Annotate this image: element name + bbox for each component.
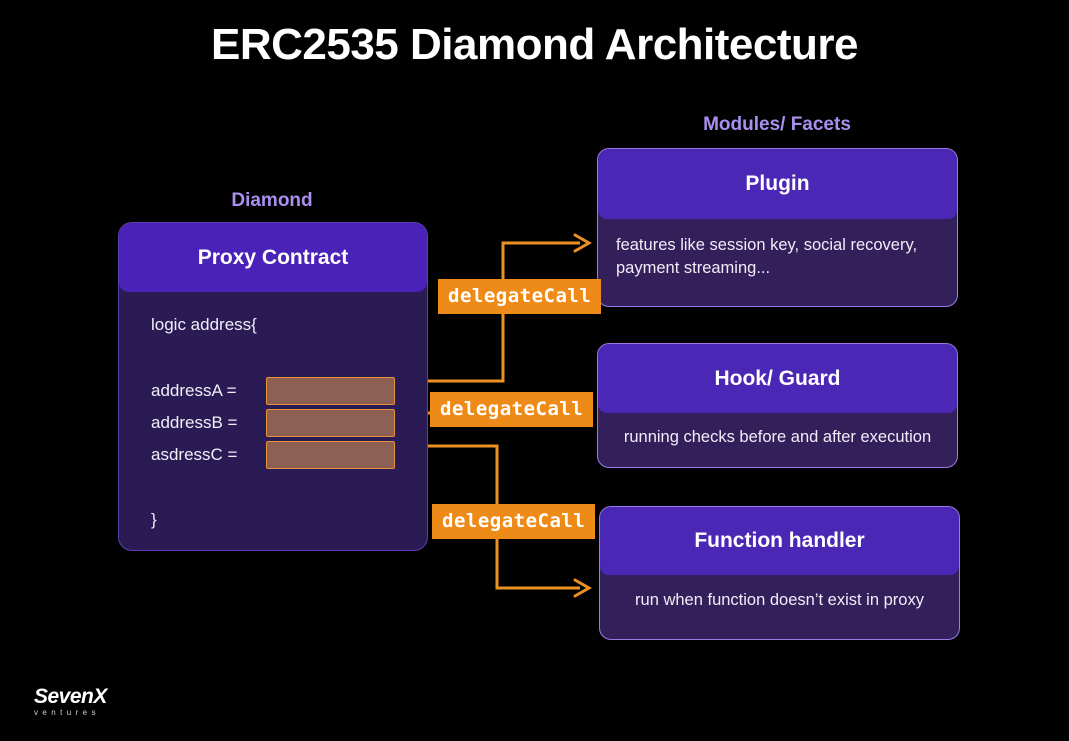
module-card-plugin[interactable]: Plugin features like session key, social…	[597, 148, 958, 307]
address-row[interactable]: addressB =	[151, 409, 428, 437]
module-card-hook-guard[interactable]: Hook/ Guard running checks before and af…	[597, 343, 958, 468]
brand-name: SevenX	[34, 686, 174, 707]
module-title: Function handler	[600, 507, 959, 575]
module-title: Hook/ Guard	[598, 344, 957, 413]
address-slot[interactable]	[266, 409, 395, 437]
brand-subtitle: ventures	[34, 708, 174, 717]
address-slot[interactable]	[266, 377, 395, 405]
module-card-function-handler[interactable]: Function handler run when function doesn…	[599, 506, 960, 640]
address-slot[interactable]	[266, 441, 395, 469]
address-label: asdressC =	[151, 445, 266, 465]
address-label: addressB =	[151, 413, 266, 433]
sevenx-logo: SevenX ventures	[34, 686, 174, 717]
proxy-contract-header: Proxy Contract	[119, 223, 427, 292]
logic-address-close: }	[151, 510, 157, 530]
address-row[interactable]: addressA =	[151, 377, 428, 405]
arrow-head-plugin	[575, 235, 589, 251]
caption-diamond: Diamond	[172, 190, 372, 212]
delegatecall-badge: delegateCall	[438, 279, 601, 314]
module-title: Plugin	[598, 149, 957, 219]
delegatecall-badge: delegateCall	[430, 392, 593, 427]
module-description: running checks before and after executio…	[598, 413, 957, 449]
proxy-contract-body: logic address{ addressA = addressB = asd…	[119, 292, 427, 551]
page-title: ERC2535 Diamond Architecture	[0, 20, 1069, 70]
logic-address-open: logic address{	[151, 315, 257, 335]
delegatecall-badge: delegateCall	[432, 504, 595, 539]
module-description: features like session key, social recove…	[598, 219, 957, 280]
proxy-contract-card[interactable]: Proxy Contract logic address{ addressA =…	[118, 222, 428, 551]
module-description: run when function doesn’t exist in proxy	[600, 575, 959, 612]
address-label: addressA =	[151, 381, 266, 401]
address-row[interactable]: asdressC =	[151, 441, 428, 469]
caption-modules-facets: Modules/ Facets	[657, 114, 897, 136]
arrow-head-function	[575, 580, 589, 596]
